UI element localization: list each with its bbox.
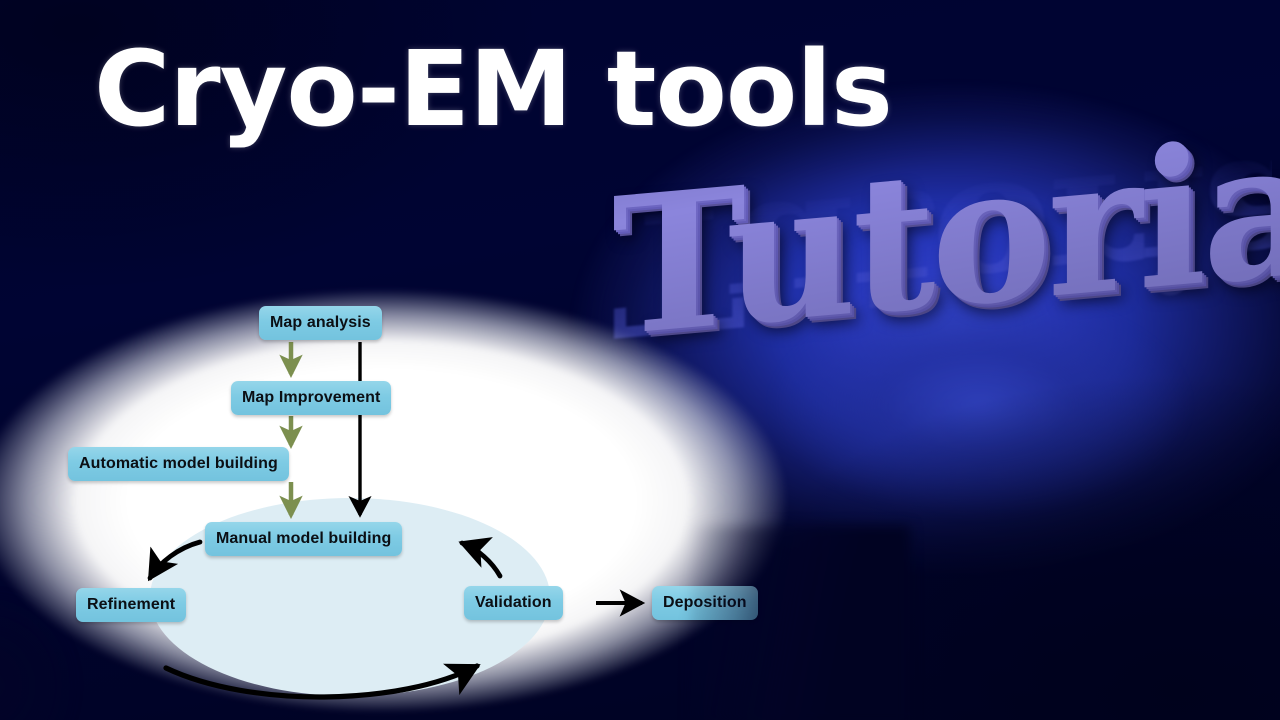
node-label: Map analysis xyxy=(270,314,371,332)
edge-manual-to-refinement xyxy=(150,542,200,578)
node-map-analysis[interactable]: Map analysis xyxy=(259,306,382,340)
node-label: Automatic model building xyxy=(79,455,278,473)
node-automatic-model-building[interactable]: Automatic model building xyxy=(68,447,289,481)
node-label: Manual model building xyxy=(216,530,391,548)
node-label: Refinement xyxy=(87,596,175,614)
node-label: Validation xyxy=(475,594,552,612)
node-refinement[interactable]: Refinement xyxy=(76,588,186,622)
diagram-connectors xyxy=(0,266,860,720)
node-map-improvement[interactable]: Map Improvement xyxy=(231,381,391,415)
page-title: Cryo-EM tools xyxy=(94,32,892,146)
edge-validation-to-manual xyxy=(462,543,500,576)
node-validation[interactable]: Validation xyxy=(464,586,563,620)
node-label: Deposition xyxy=(663,594,747,612)
edge-refinement-to-validation xyxy=(166,666,477,697)
cryo-em-workflow-diagram: Map analysis Map Improvement Automatic m… xyxy=(0,266,860,720)
node-deposition[interactable]: Deposition xyxy=(652,586,758,620)
node-label: Map Improvement xyxy=(242,389,380,407)
node-manual-model-building[interactable]: Manual model building xyxy=(205,522,402,556)
slide-canvas: Tutorial Tutorial Cryo-EM tools xyxy=(0,0,1280,720)
